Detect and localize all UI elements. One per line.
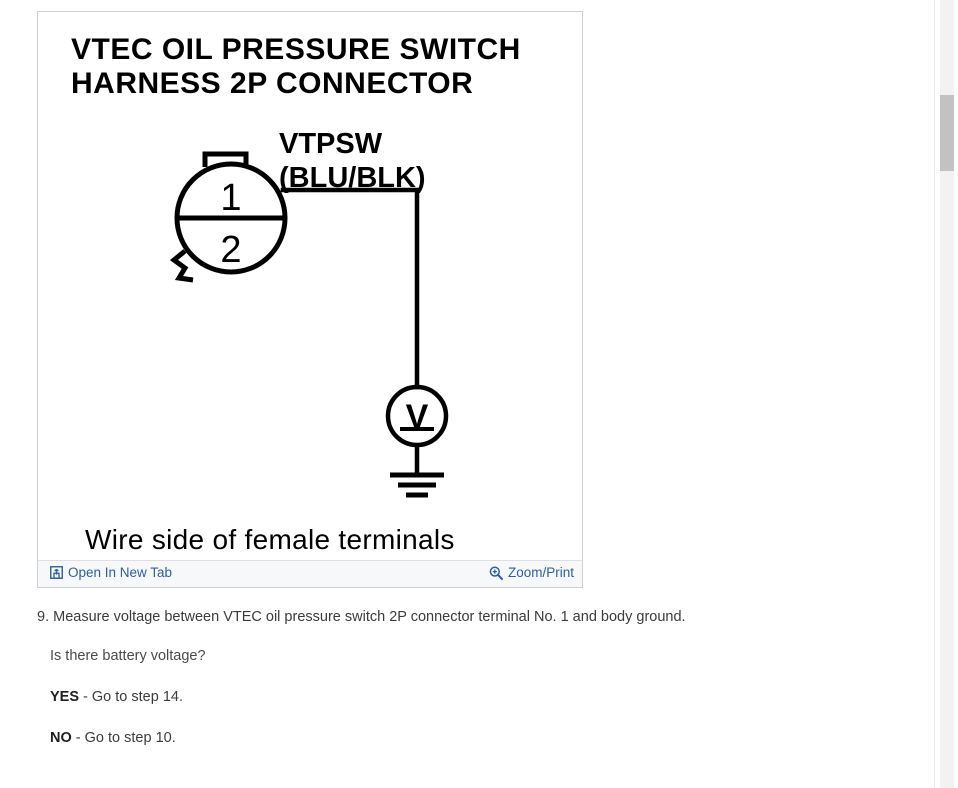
wiring-diagram-svg: VTEC OIL PRESSURE SWITCH HARNESS 2P CONN… xyxy=(38,12,582,560)
answer-no-label: NO xyxy=(50,730,72,746)
page-content: VTEC OIL PRESSURE SWITCH HARNESS 2P CONN… xyxy=(0,0,930,788)
answer-yes-text: - Go to step 14. xyxy=(79,689,183,705)
diagram-title-line1: VTEC OIL PRESSURE SWITCH xyxy=(71,33,521,66)
answer-no-text: - Go to step 10. xyxy=(72,730,176,746)
figure-panel: VTEC OIL PRESSURE SWITCH HARNESS 2P CONN… xyxy=(37,11,583,588)
diagram-caption: Wire side of female terminals xyxy=(85,524,455,555)
diagram-title-line2: HARNESS 2P CONNECTOR xyxy=(71,67,473,100)
answer-no: NO - Go to step 10. xyxy=(50,730,176,746)
magnifier-plus-icon xyxy=(489,566,503,580)
open-in-new-tab-icon xyxy=(50,566,63,579)
inner-scrollbar-right[interactable] xyxy=(934,0,958,788)
open-in-new-tab-label: Open In New Tab xyxy=(68,565,172,580)
wiring-diagram-image[interactable]: VTEC OIL PRESSURE SWITCH HARNESS 2P CONN… xyxy=(38,12,582,560)
zoom-print-button[interactable]: Zoom/Print xyxy=(489,565,574,580)
answer-yes-label: YES xyxy=(50,689,79,705)
signal-label-line1: VTPSW xyxy=(279,128,383,160)
terminal-number-2: 2 xyxy=(220,229,241,271)
step-instruction: 9. Measure voltage between VTEC oil pres… xyxy=(37,608,897,628)
inner-scrollbar-right-thumb[interactable] xyxy=(940,95,954,171)
open-in-new-tab-button[interactable]: Open In New Tab xyxy=(50,565,172,580)
zoom-print-label: Zoom/Print xyxy=(508,565,574,580)
answer-yes: YES - Go to step 14. xyxy=(50,689,183,705)
terminal-number-1: 1 xyxy=(220,177,241,219)
figure-toolbar: Open In New Tab Zoom/Print xyxy=(38,560,582,587)
step-question: Is there battery voltage? xyxy=(50,648,206,664)
